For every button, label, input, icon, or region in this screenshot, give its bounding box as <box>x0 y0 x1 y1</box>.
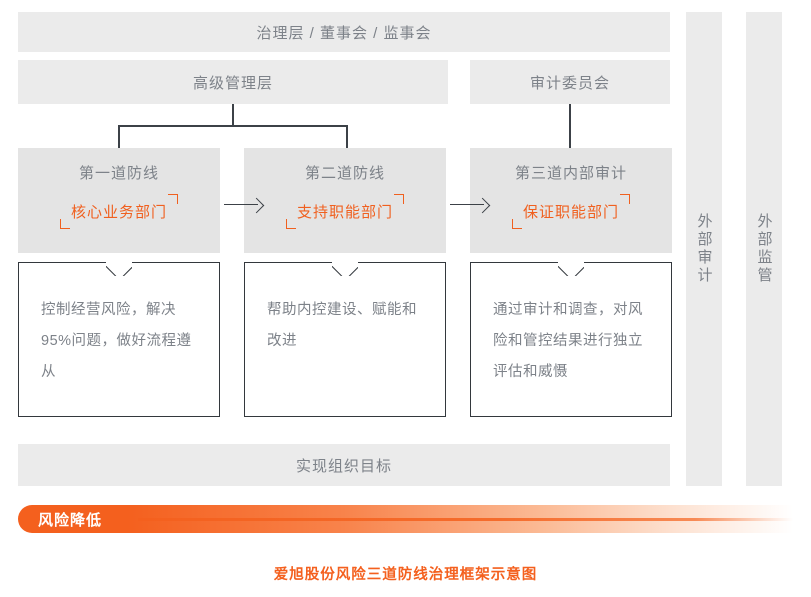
risk-reduction-label: 风险降低 <box>38 505 102 533</box>
defense-line-box-3: 第三道内部审计 保证职能部门 <box>470 148 672 253</box>
description-box-3: 通过审计和调查，对风险和管控结果进行独立评估和威慑 <box>470 262 672 417</box>
chevron-down-icon <box>106 261 132 276</box>
management-connector-stem <box>232 104 234 126</box>
external-supervision-label: 外部监管 <box>757 213 772 285</box>
organizational-goal-bar: 实现组织目标 <box>18 444 670 486</box>
description-box-2: 帮助内控建设、赋能和改进 <box>244 262 446 417</box>
defense-line-1-subtitle-wrap: 核心业务部门 <box>18 198 220 225</box>
senior-management-label: 高级管理层 <box>193 72 273 93</box>
arrow-right-icon-2 <box>450 199 492 211</box>
defense-line-1-subtitle: 核心业务部门 <box>62 198 176 225</box>
diagram-caption: 爱旭股份风险三道防线治理框架示意图 <box>0 563 811 584</box>
description-box-1: 控制经营风险，解决95%问题，做好流程遵从 <box>18 262 220 417</box>
arrow-head <box>475 197 491 213</box>
management-connector-crossbar <box>118 125 348 127</box>
description-3-text: 通过审计和调查，对风险和管控结果进行独立评估和威慑 <box>493 302 643 380</box>
defense-line-box-1: 第一道防线 核心业务部门 <box>18 148 220 253</box>
chevron-down-icon <box>558 261 584 276</box>
risk-bar-trailing-line <box>138 518 793 521</box>
management-connector-drop-left <box>118 125 120 148</box>
description-2-text: 帮助内控建设、赋能和改进 <box>267 302 417 349</box>
audit-committee-label: 审计委员会 <box>530 72 610 93</box>
audit-committee-connector <box>569 104 571 148</box>
defense-line-1-title: 第一道防线 <box>18 162 220 183</box>
defense-line-box-2: 第二道防线 支持职能部门 <box>244 148 446 253</box>
senior-management-bar: 高级管理层 <box>18 60 448 104</box>
defense-line-3-subtitle-wrap: 保证职能部门 <box>470 198 672 225</box>
audit-committee-bar: 审计委员会 <box>470 60 670 104</box>
management-connector-drop-right <box>346 125 348 148</box>
external-supervision-column: 外部监管 <box>746 12 782 486</box>
notch-mask <box>106 259 132 262</box>
defense-line-2-subtitle-wrap: 支持职能部门 <box>244 198 446 225</box>
external-audit-label: 外部审计 <box>697 213 712 285</box>
external-audit-column: 外部审计 <box>686 12 722 486</box>
defense-line-2-title: 第二道防线 <box>244 162 446 183</box>
diagram-canvas: 治理层 / 董事会 / 监事会 高级管理层 审计委员会 第一道防线 核心业务部门… <box>0 0 811 597</box>
risk-reduction-bar: 风险降低 <box>18 505 793 533</box>
governance-bar: 治理层 / 董事会 / 监事会 <box>18 12 670 52</box>
notch-mask <box>558 259 584 262</box>
governance-bar-label: 治理层 / 董事会 / 监事会 <box>256 22 431 43</box>
defense-line-3-title: 第三道内部审计 <box>470 162 672 183</box>
arrow-right-icon-1 <box>224 199 266 211</box>
arrow-head <box>249 197 265 213</box>
chevron-down-icon <box>332 261 358 276</box>
organizational-goal-label: 实现组织目标 <box>296 455 392 476</box>
defense-line-3-subtitle: 保证职能部门 <box>514 198 628 225</box>
defense-line-2-subtitle: 支持职能部门 <box>288 198 402 225</box>
description-1-text: 控制经营风险，解决95%问题，做好流程遵从 <box>41 302 192 380</box>
notch-mask <box>332 259 358 262</box>
